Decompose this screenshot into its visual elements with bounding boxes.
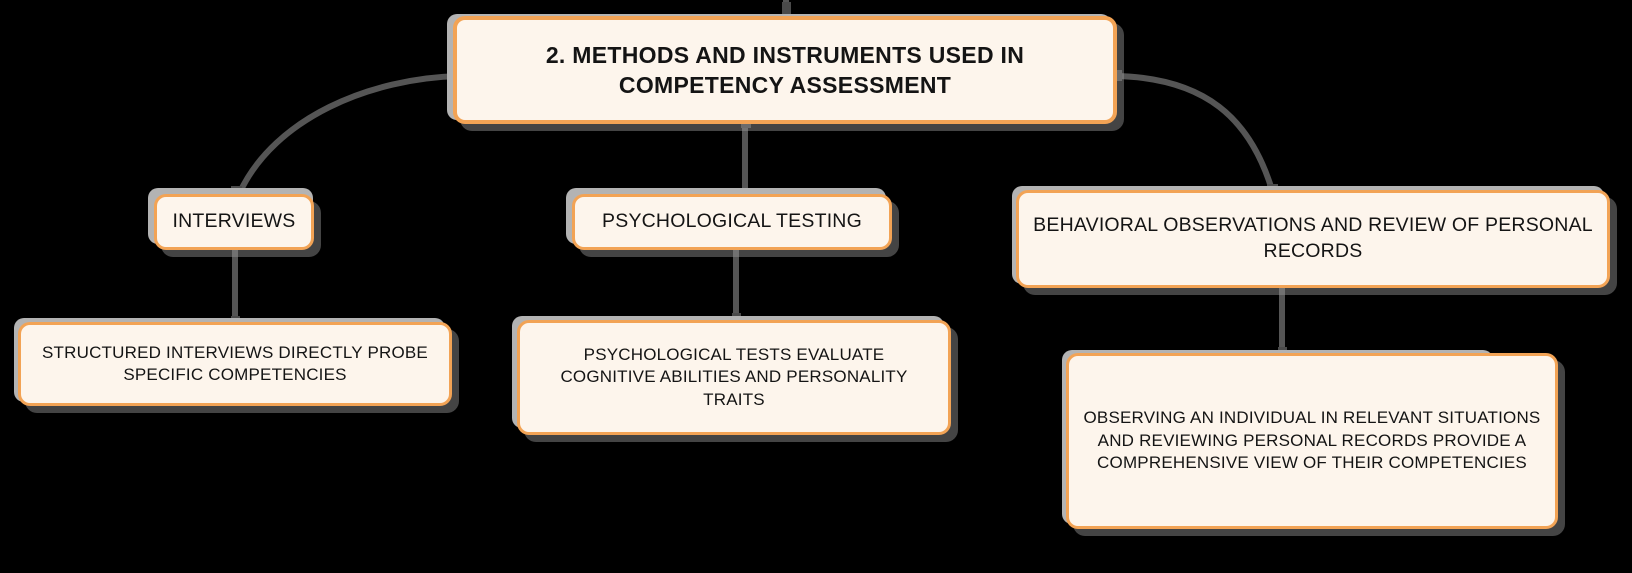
detail-node-behavioral-observations-label: OBSERVING AN INDIVIDUAL IN RELEVANT SITU… — [1069, 407, 1555, 474]
edge-root-to-interviews — [240, 76, 460, 192]
root-node-label: 2. METHODS AND INSTRUMENTS USED IN COMPE… — [457, 40, 1113, 101]
branch-node-behavioral-observations[interactable]: BEHAVIORAL OBSERVATIONS AND REVIEW OF PE… — [1016, 190, 1610, 288]
detail-node-psychological-testing-label: PSYCHOLOGICAL TESTS EVALUATE COGNITIVE A… — [520, 344, 948, 411]
endpoint-marker — [782, 2, 791, 14]
diagram-canvas: 2. METHODS AND INSTRUMENTS USED IN COMPE… — [0, 0, 1632, 573]
branch-node-psychological-testing-label: PSYCHOLOGICAL TESTING — [575, 209, 889, 235]
edge-root-to-behavioral-observations — [1116, 76, 1272, 190]
branch-node-psychological-testing[interactable]: PSYCHOLOGICAL TESTING — [572, 194, 892, 250]
detail-node-psychological-testing[interactable]: PSYCHOLOGICAL TESTS EVALUATE COGNITIVE A… — [517, 320, 951, 435]
detail-node-interviews[interactable]: STRUCTURED INTERVIEWS DIRECTLY PROBE SPE… — [18, 322, 452, 406]
root-node[interactable]: 2. METHODS AND INSTRUMENTS USED IN COMPE… — [453, 16, 1117, 124]
branch-node-behavioral-observations-label: BEHAVIORAL OBSERVATIONS AND REVIEW OF PE… — [1019, 213, 1607, 264]
branch-node-interviews-label: INTERVIEWS — [157, 209, 311, 235]
detail-node-behavioral-observations[interactable]: OBSERVING AN INDIVIDUAL IN RELEVANT SITU… — [1066, 353, 1558, 529]
detail-node-interviews-label: STRUCTURED INTERVIEWS DIRECTLY PROBE SPE… — [21, 342, 449, 387]
branch-node-interviews[interactable]: INTERVIEWS — [154, 194, 314, 250]
